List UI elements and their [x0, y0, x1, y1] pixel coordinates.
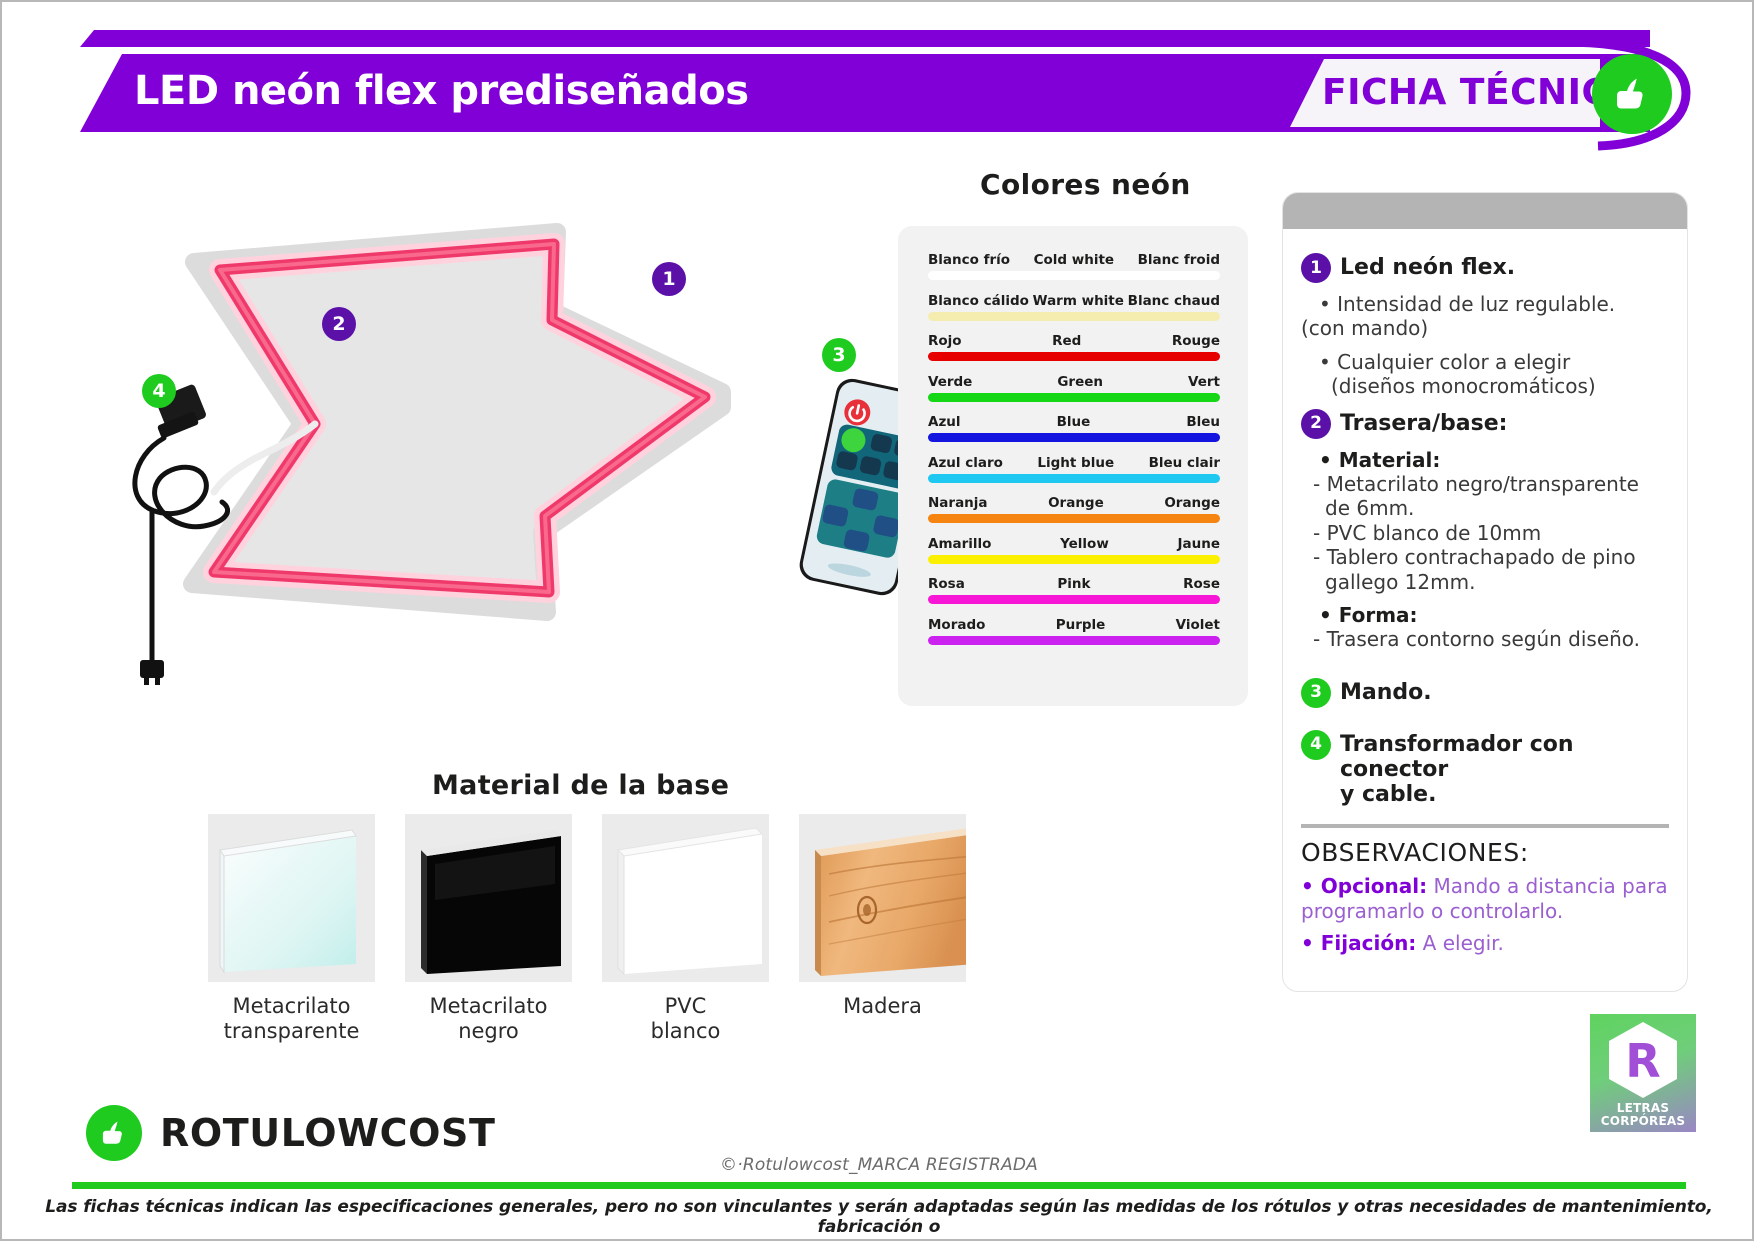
- color-name-es: Rojo: [928, 333, 962, 349]
- callout-marker-4: 4: [142, 374, 176, 408]
- footer-logo-icon: [86, 1105, 142, 1161]
- material-caption: Metacrilato negro: [405, 994, 572, 1044]
- color-row: Amarillo Yellow Jaune: [928, 536, 1220, 564]
- color-row: Azul Blue Bleu: [928, 414, 1220, 442]
- color-name-es: Morado: [928, 617, 985, 633]
- color-row: Morado Purple Violet: [928, 617, 1220, 645]
- spec-item-1-title: Led neón flex.: [1340, 253, 1515, 280]
- color-swatch-bar: [928, 352, 1220, 361]
- header-top-accent-bar: [80, 30, 1650, 47]
- color-row: Naranja Orange Orange: [928, 495, 1220, 523]
- header-logo-icon: [1592, 54, 1672, 134]
- hexagon-r-icon: R: [1602, 1019, 1684, 1101]
- spec-marker-2: 2: [1301, 409, 1331, 439]
- color-name-es: Rosa: [928, 576, 965, 592]
- letras-corporeas-badge: R LETRAS CORPÓREAS: [1590, 1014, 1696, 1132]
- color-row: Verde Green Vert: [928, 374, 1220, 402]
- acrylic-black-swatch: [405, 814, 572, 982]
- transformer-cable-illustration: [102, 382, 402, 712]
- color-name-fr: Jaune: [1177, 536, 1220, 552]
- spec-item-3-title: Mando.: [1340, 678, 1432, 705]
- color-swatch-bar: [928, 271, 1220, 280]
- spec-item-3: 3 Mando.: [1301, 678, 1669, 708]
- color-row: Blanco cálido Warm white Blanc chaud: [928, 293, 1220, 321]
- color-name-en: Blue: [961, 414, 1187, 430]
- color-name-es: Azul: [928, 414, 961, 430]
- color-name-fr: Rose: [1183, 576, 1220, 592]
- color-swatch-bar: [928, 636, 1220, 645]
- spec-item-2-forma-label: • Forma:: [1301, 603, 1669, 627]
- color-swatch-bar: [928, 595, 1220, 604]
- material-section-title: Material de la base: [432, 770, 729, 801]
- color-name-es: Verde: [928, 374, 972, 390]
- thumbs-up-icon: [97, 1116, 131, 1150]
- color-name-en: Yellow: [991, 536, 1177, 552]
- spec-item-2-material-label: • Material:: [1301, 448, 1669, 472]
- callout-marker-2: 2: [322, 307, 356, 341]
- color-name-fr: Orange: [1164, 495, 1220, 511]
- color-swatch-bar: [928, 555, 1220, 564]
- observations-heading: OBSERVACIONES:: [1301, 838, 1669, 867]
- color-name-fr: Bleu clair: [1149, 455, 1220, 471]
- observation-line-2: • Fijación: A elegir.: [1301, 931, 1669, 956]
- callout-marker-3: 3: [822, 338, 856, 372]
- spec-marker-1: 1: [1301, 253, 1331, 283]
- acrylic-clear-swatch: [208, 814, 375, 982]
- color-name-es: Blanco frío: [928, 252, 1010, 268]
- spec-marker-3: 3: [1301, 678, 1331, 708]
- footer-disclaimer: Las fichas técnicas indican las especifi…: [2, 1197, 1754, 1237]
- spec-marker-4: 4: [1301, 730, 1331, 760]
- color-name-en: Cold white: [1010, 252, 1138, 268]
- color-name-fr: Vert: [1188, 374, 1220, 390]
- spec-item-4-title: Transformador con conector y cable.: [1340, 730, 1669, 808]
- color-name-es: Azul claro: [928, 455, 1003, 471]
- material-item: Metacrilato negro: [405, 814, 572, 1044]
- color-swatch-bar: [928, 474, 1220, 483]
- spec-item-1-bullet-2: • Cualquier color a elegir (diseños mono…: [1301, 350, 1669, 399]
- color-name-en: Green: [972, 374, 1188, 390]
- color-name-es: Blanco cálido: [928, 293, 1029, 309]
- material-caption: Metacrilato transparente: [208, 994, 375, 1044]
- spec-divider: [1301, 824, 1669, 828]
- color-name-en: Red: [962, 333, 1172, 349]
- material-item: Madera: [799, 814, 966, 1044]
- specifications-panel: 1 Led neón flex. • Intensidad de luz reg…: [1282, 192, 1688, 992]
- spec-item-2-title: Trasera/base:: [1340, 409, 1507, 436]
- pvc-white-swatch: [602, 814, 769, 982]
- wood-swatch: [799, 814, 966, 982]
- page-title: LED neón flex prediseñados: [134, 68, 749, 114]
- colors-list: Blanco frío Cold white Blanc froid Blanc…: [928, 252, 1220, 657]
- color-name-es: Amarillo: [928, 536, 991, 552]
- material-item: Metacrilato transparente: [208, 814, 375, 1044]
- material-item: PVC blanco: [602, 814, 769, 1044]
- color-name-fr: Violet: [1176, 617, 1220, 633]
- color-name-en: Pink: [965, 576, 1183, 592]
- datasheet-page: LED neón flex prediseñados FICHA TÉCNICA…: [0, 0, 1754, 1241]
- color-row: Rosa Pink Rose: [928, 576, 1220, 604]
- observation-line-1: • Opcional: Mando a distancia para progr…: [1301, 874, 1669, 924]
- spec-panel-body: 1 Led neón flex. • Intensidad de luz reg…: [1283, 229, 1687, 956]
- color-name-es: Naranja: [928, 495, 988, 511]
- color-swatch-bar: [928, 514, 1220, 523]
- color-row: Rojo Red Rouge: [928, 333, 1220, 361]
- callout-marker-1: 1: [652, 262, 686, 296]
- footer-green-bar: [72, 1182, 1686, 1189]
- spec-item-2-material-lines: - Metacrilato negro/transparente de 6mm.…: [1301, 472, 1669, 594]
- color-row: Azul claro Light blue Bleu clair: [928, 455, 1220, 483]
- spec-item-2-forma-line: - Trasera contorno según diseño.: [1301, 627, 1669, 651]
- thumbs-up-icon: [1609, 71, 1655, 117]
- spec-item-1-bullet-1: • Intensidad de luz regulable. (con mand…: [1301, 292, 1669, 341]
- material-caption: PVC blanco: [602, 994, 769, 1044]
- spec-item-1: 1 Led neón flex.: [1301, 253, 1669, 283]
- color-swatch-bar: [928, 312, 1220, 321]
- color-name-en: Orange: [988, 495, 1165, 511]
- color-name-fr: Blanc froid: [1138, 252, 1220, 268]
- color-name-fr: Blanc chaud: [1128, 293, 1220, 309]
- material-caption: Madera: [799, 994, 966, 1019]
- color-name-fr: Bleu: [1186, 414, 1220, 430]
- color-name-en: Purple: [985, 617, 1175, 633]
- color-swatch-bar: [928, 433, 1220, 442]
- spec-item-2: 2 Trasera/base:: [1301, 409, 1669, 439]
- footer-copyright: ©·Rotulowcost_MARCA REGISTRADA: [2, 1155, 1754, 1175]
- color-row: Blanco frío Cold white Blanc froid: [928, 252, 1220, 280]
- color-swatch-bar: [928, 393, 1220, 402]
- color-name-fr: Rouge: [1172, 333, 1220, 349]
- spec-panel-header-bar: [1283, 193, 1687, 229]
- letras-corporeas-label: LETRAS CORPÓREAS: [1601, 1102, 1685, 1128]
- colors-section-title: Colores neón: [980, 168, 1191, 201]
- spec-item-4: 4 Transformador con conector y cable.: [1301, 730, 1669, 808]
- color-name-en: Warm white: [1029, 293, 1128, 309]
- color-name-en: Light blue: [1003, 455, 1149, 471]
- material-samples-row: Metacrilato transparente Metacrilato neg…: [208, 814, 968, 1044]
- footer-brand-name: ROTULOWCOST: [160, 1111, 496, 1155]
- svg-text:R: R: [1625, 1034, 1660, 1088]
